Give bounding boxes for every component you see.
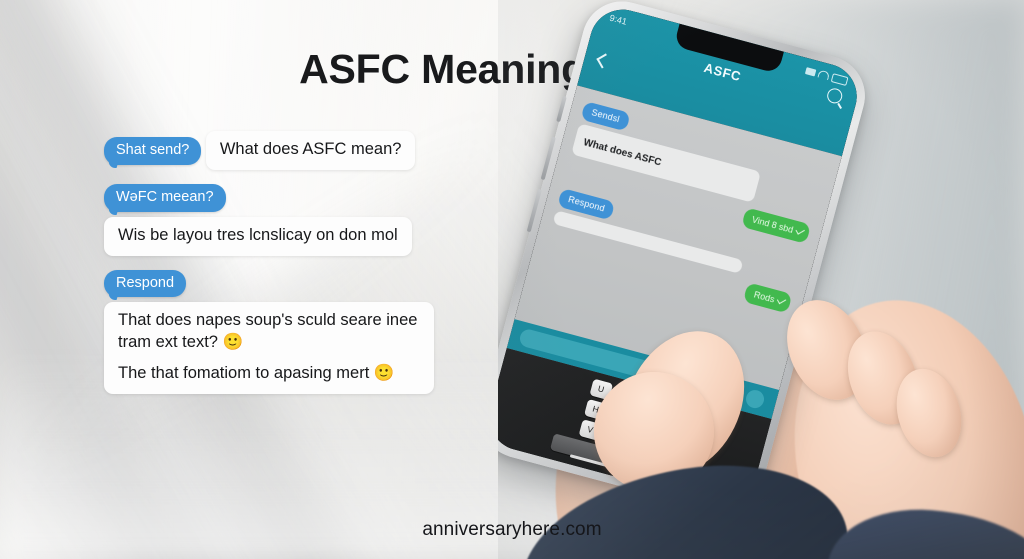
chat-group-2: WəFC meean? Wis be layou tres lcnslicay … <box>104 184 434 256</box>
page-canvas: ASFC Meaning in Text Shat send? What doe… <box>0 0 1024 559</box>
site-watermark: anniversaryhere.com <box>0 519 1024 541</box>
chat-message-bubble: What does ASFC mean? <box>206 131 416 170</box>
photo-vignette <box>498 0 1024 559</box>
chat-group-1: Shat send? What does ASFC mean? <box>104 126 434 170</box>
chat-label-badge: Shat send? <box>104 137 201 165</box>
chat-transcript: Shat send? What does ASFC mean? WəFC mee… <box>104 126 434 408</box>
chat-message-line: Wis be layou tres lcnslicay on don mol <box>118 225 398 247</box>
chat-label-badge: WəFC meean? <box>104 184 226 212</box>
chat-message-bubble: That does napes soup's sculd seare inee … <box>104 302 434 394</box>
photo-hands-holding-phone: 9:41 ASFC Sendsl <box>498 0 1024 559</box>
chat-message-line: That does napes soup's sculd seare inee … <box>118 310 420 354</box>
chat-group-3: Respond That does napes soup's sculd sea… <box>104 270 434 394</box>
chat-message-line: The that fomatiom to apasing mert 🙂 <box>118 363 420 385</box>
chat-label-badge: Respond <box>104 270 186 298</box>
chat-message-line: What does ASFC mean? <box>220 139 402 161</box>
chat-message-bubble: Wis be layou tres lcnslicay on don mol <box>104 217 412 256</box>
